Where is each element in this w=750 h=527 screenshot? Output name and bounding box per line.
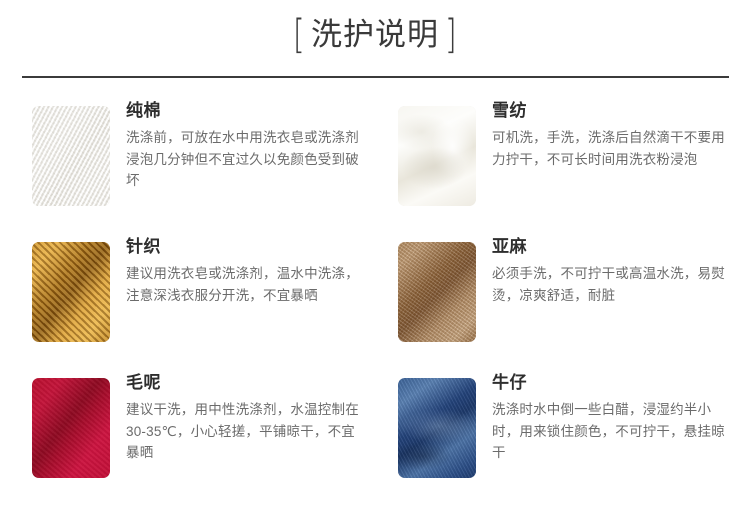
denim-fabric-swatch [398, 378, 476, 478]
material-card-body: 雪纺 可机洗，手洗，洗涤后自然滴干不要用力拧干，不可长时间用洗衣粉浸泡 [492, 100, 728, 170]
material-grid: 纯棉 洗涤前，可放在水中用洗衣皂或洗涤剂浸泡几分钟但不宜过久以免颜色受到破坏 雪… [0, 100, 750, 508]
material-description: 洗涤前，可放在水中用洗衣皂或洗涤剂浸泡几分钟但不宜过久以免颜色受到破坏 [126, 127, 362, 192]
material-description: 建议干洗，用中性洗涤剂，水温控制在30-35℃，小心轻搓，平铺晾干，不宜暴晒 [126, 399, 362, 464]
linen-fabric-swatch [398, 242, 476, 342]
cotton-fabric-swatch [32, 106, 110, 206]
material-description: 洗涤时水中倒一些白醋，浸湿约半小时，用来锁住颜色，不可拧干，悬挂晾干 [492, 399, 728, 464]
wool-fabric-swatch [32, 378, 110, 478]
material-card-denim: 牛仔 洗涤时水中倒一些白醋，浸湿约半小时，用来锁住颜色，不可拧干，悬挂晾干 [398, 372, 728, 492]
material-card-body: 毛呢 建议干洗，用中性洗涤剂，水温控制在30-35℃，小心轻搓，平铺晾干，不宜暴… [126, 372, 362, 464]
page-header: [洗护说明] [0, 0, 750, 80]
material-card-knit: 针织 建议用洗衣皂或洗涤剂，温水中洗涤，注意深浅衣服分开洗，不宜暴晒 [32, 236, 362, 356]
material-card-chiffon: 雪纺 可机洗，手洗，洗涤后自然滴干不要用力拧干，不可长时间用洗衣粉浸泡 [398, 100, 728, 220]
material-description: 建议用洗衣皂或洗涤剂，温水中洗涤，注意深浅衣服分开洗，不宜暴晒 [126, 263, 362, 306]
right-bracket-decoration: ] [445, 12, 457, 58]
material-name: 亚麻 [492, 236, 728, 258]
material-name: 毛呢 [126, 372, 362, 394]
material-name: 牛仔 [492, 372, 728, 394]
material-name: 针织 [126, 236, 362, 258]
material-name: 纯棉 [126, 100, 362, 122]
material-row-1: 纯棉 洗涤前，可放在水中用洗衣皂或洗涤剂浸泡几分钟但不宜过久以免颜色受到破坏 雪… [0, 100, 750, 236]
material-card-body: 纯棉 洗涤前，可放在水中用洗衣皂或洗涤剂浸泡几分钟但不宜过久以免颜色受到破坏 [126, 100, 362, 192]
care-instructions-page: [洗护说明] 纯棉 洗涤前，可放在水中用洗衣皂或洗涤剂浸泡几分钟但不宜过久以免颜… [0, 0, 750, 527]
chiffon-fabric-swatch [398, 106, 476, 206]
page-title-text: 洗护说明 [311, 12, 439, 58]
header-divider [22, 76, 729, 78]
material-card-linen: 亚麻 必须手洗，不可拧干或高温水洗，易熨烫，凉爽舒适，耐脏 [398, 236, 728, 356]
material-name: 雪纺 [492, 100, 728, 122]
material-description: 必须手洗，不可拧干或高温水洗，易熨烫，凉爽舒适，耐脏 [492, 263, 728, 306]
page-title: [洗护说明] [0, 12, 750, 58]
material-card-body: 针织 建议用洗衣皂或洗涤剂，温水中洗涤，注意深浅衣服分开洗，不宜暴晒 [126, 236, 362, 306]
knit-fabric-swatch [32, 242, 110, 342]
material-card-cotton: 纯棉 洗涤前，可放在水中用洗衣皂或洗涤剂浸泡几分钟但不宜过久以免颜色受到破坏 [32, 100, 362, 220]
material-row-3: 毛呢 建议干洗，用中性洗涤剂，水温控制在30-35℃，小心轻搓，平铺晾干，不宜暴… [0, 372, 750, 508]
material-description: 可机洗，手洗，洗涤后自然滴干不要用力拧干，不可长时间用洗衣粉浸泡 [492, 127, 728, 170]
material-card-body: 牛仔 洗涤时水中倒一些白醋，浸湿约半小时，用来锁住颜色，不可拧干，悬挂晾干 [492, 372, 728, 464]
left-bracket-decoration: [ [293, 12, 305, 58]
material-card-body: 亚麻 必须手洗，不可拧干或高温水洗，易熨烫，凉爽舒适，耐脏 [492, 236, 728, 306]
material-card-wool: 毛呢 建议干洗，用中性洗涤剂，水温控制在30-35℃，小心轻搓，平铺晾干，不宜暴… [32, 372, 362, 492]
material-row-2: 针织 建议用洗衣皂或洗涤剂，温水中洗涤，注意深浅衣服分开洗，不宜暴晒 亚麻 必须… [0, 236, 750, 372]
